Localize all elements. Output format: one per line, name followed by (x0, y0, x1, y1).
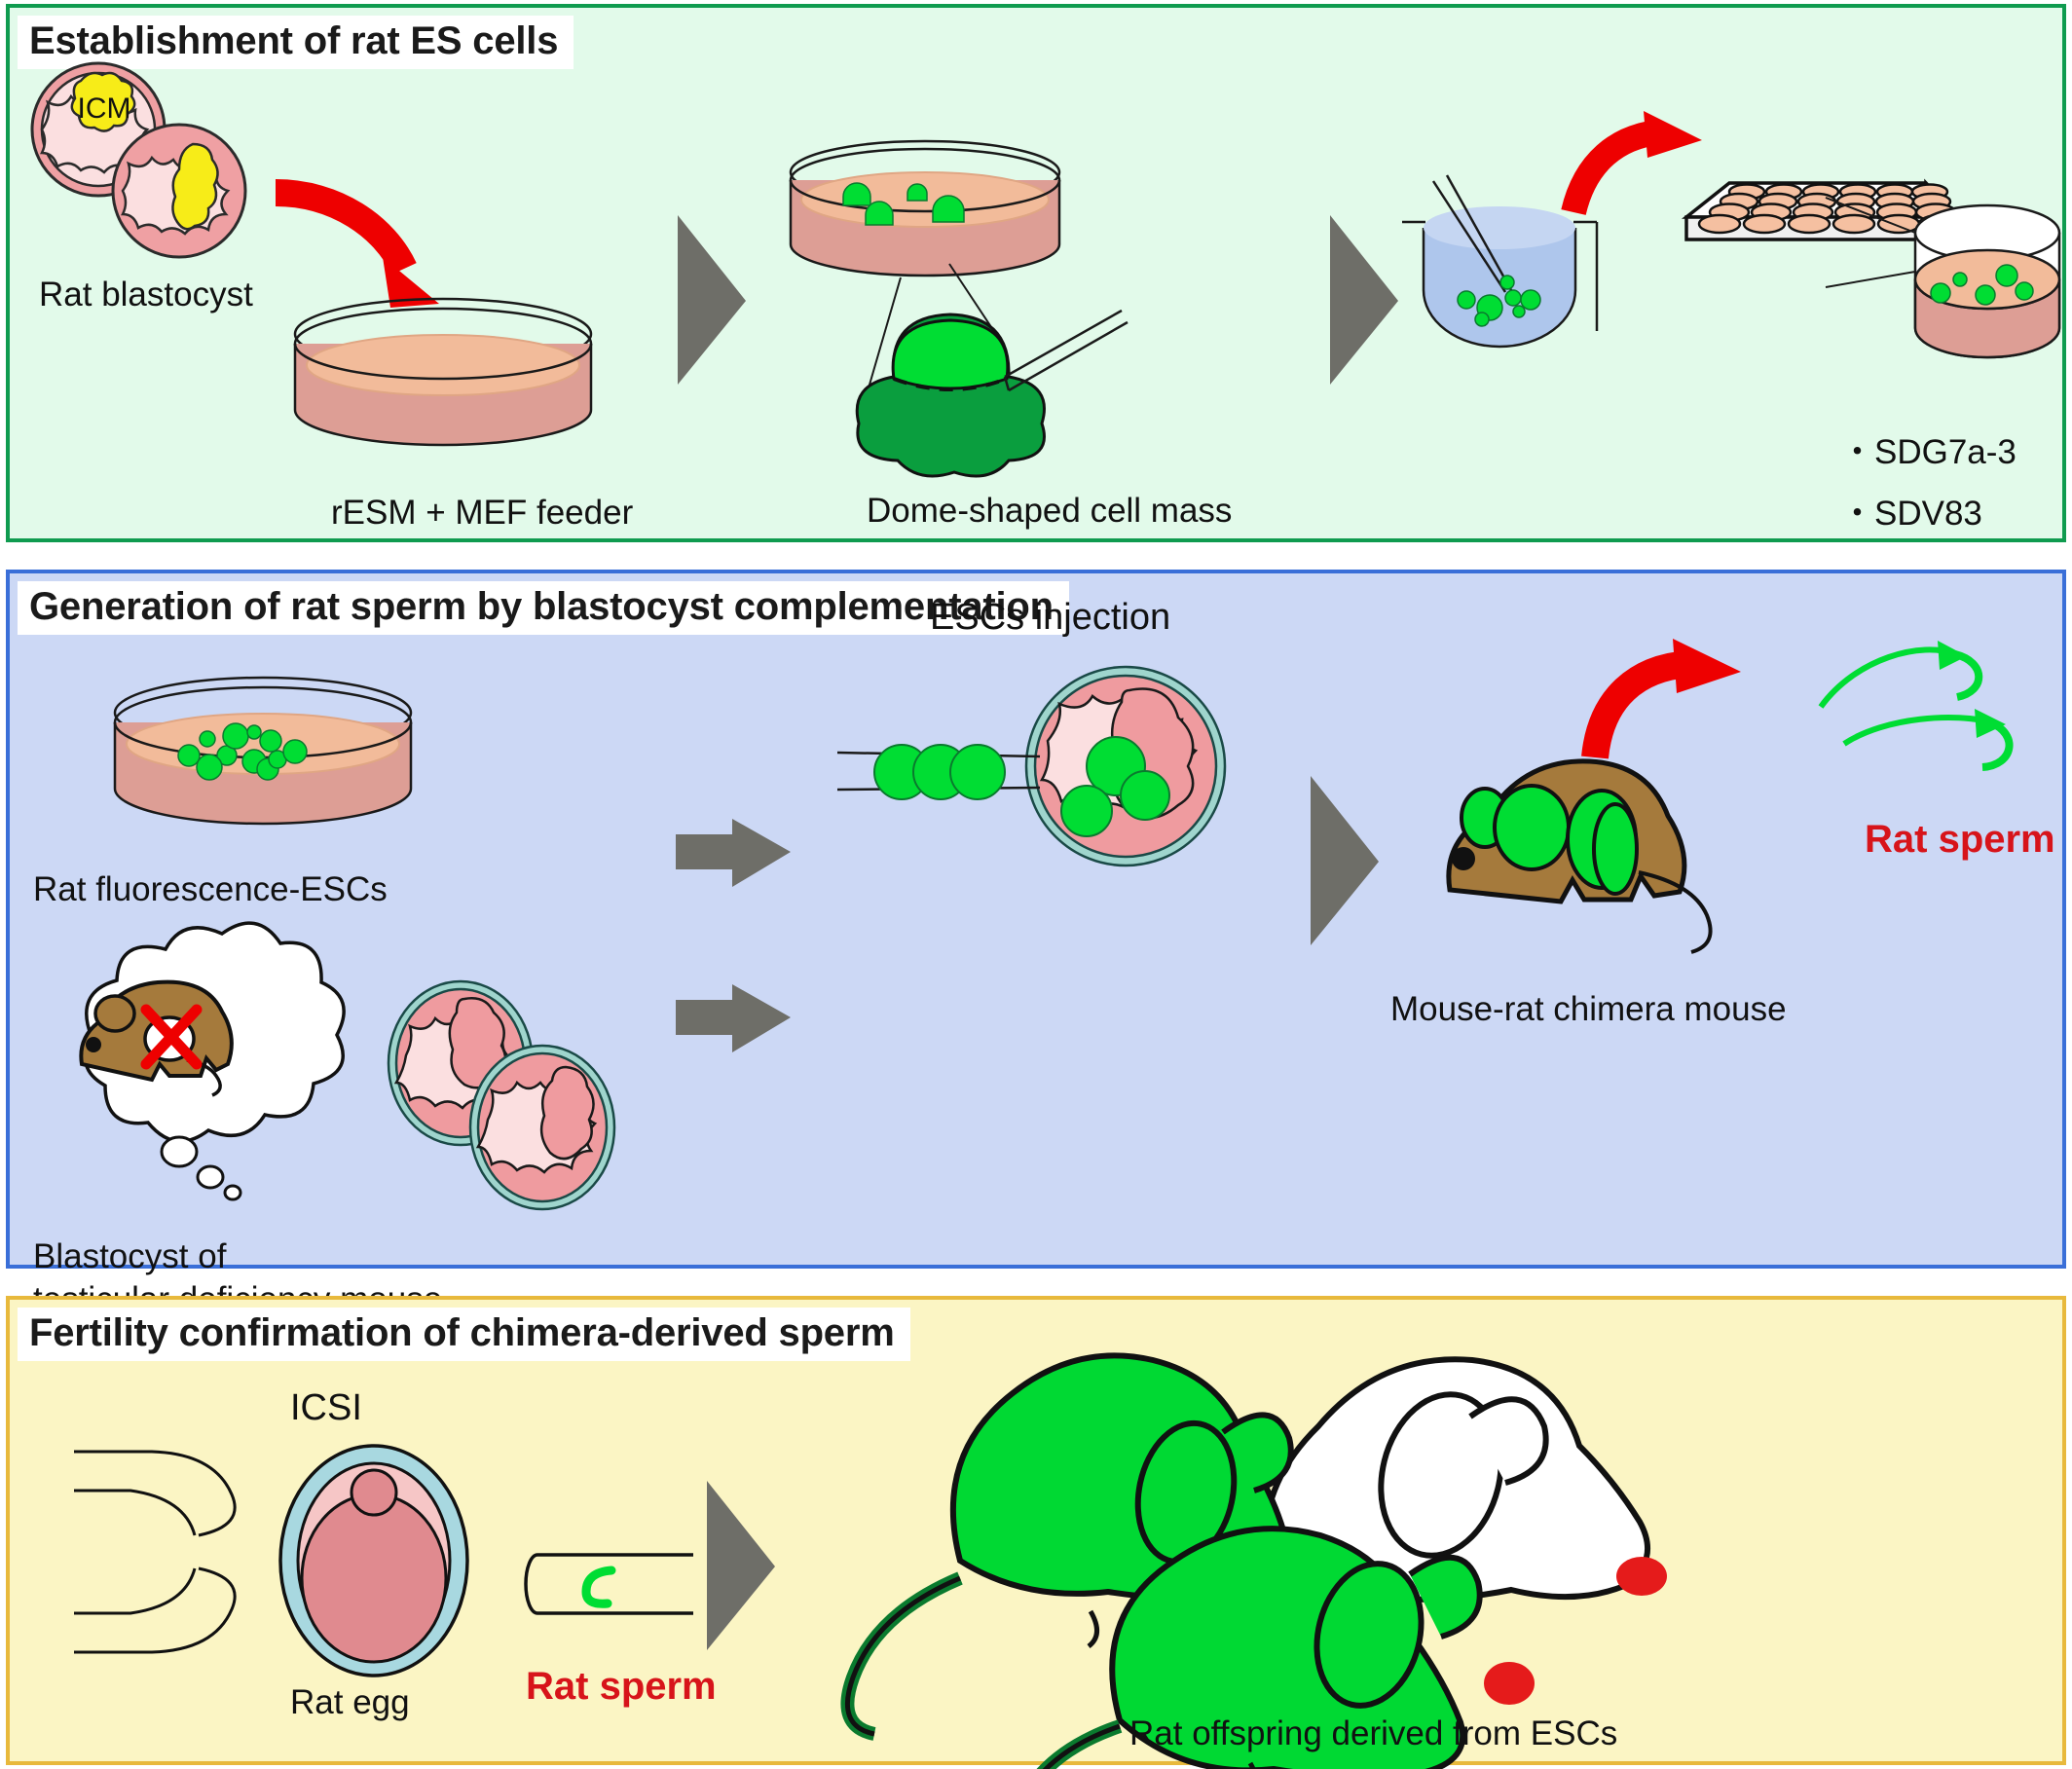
escs-injection-illustration (837, 651, 1295, 885)
petri-dish-fluorescence-escs (107, 685, 419, 866)
panel-establishment-of-rat-es-cells: Establishment of rat ES cells ICM Rat bl… (6, 4, 2066, 542)
rat-offspring-illustration (798, 1327, 1957, 1716)
label-rat-offspring: Rat offspring derived from ESCs (1129, 1713, 1617, 1755)
step-chevron-4 (682, 1473, 808, 1658)
gray-block-arrow-blastocyst (672, 980, 798, 1068)
label-rat-sperm-panel2: Rat sperm (1865, 815, 2055, 864)
label-rat-egg: Rat egg (290, 1681, 410, 1724)
label-dome-shaped-cell-mass: Dome-shaped cell mass (867, 490, 1232, 533)
testicular-deficiency-mouse-thought-bubble (33, 943, 403, 1255)
label-blastocyst-testicular-deficiency-line1: Blastocyst of (33, 1235, 226, 1278)
panel-title-fertility: Fertility confirmation of chimera-derive… (18, 1308, 910, 1361)
rat-blastocyst-illustration: ICM (18, 55, 310, 269)
panel-generation-of-rat-sperm: Generation of rat sperm by blastocyst co… (6, 570, 2066, 1269)
label-rat-fluorescence-escs: Rat fluorescence-ESCs (33, 868, 388, 911)
cell-line-item-1: ・SDG7a-3 (1840, 422, 2016, 483)
label-rat-blastocyst: Rat blastocyst (39, 274, 253, 316)
panel-fertility-confirmation: Fertility confirmation of chimera-derive… (6, 1296, 2066, 1765)
label-resm-mef-feeder: rESM + MEF feeder (331, 492, 633, 534)
cell-line-list: ・SDG7a-3 ・SDV83 (1840, 422, 2016, 544)
dome-shaped-cell-mass-illustration (779, 217, 1295, 475)
gray-block-arrow-escs (672, 815, 798, 903)
rat-sperm-swirls (1821, 637, 2064, 802)
single-well-zoom (1816, 178, 2072, 392)
step-chevron-3 (1285, 768, 1412, 953)
panel-title-generation: Generation of rat sperm by blastocyst co… (18, 581, 1069, 635)
cell-line-item-2: ・SDV83 (1840, 483, 2016, 544)
red-arrow-chimera-to-sperm (1577, 646, 1792, 783)
icm-label: ICM (78, 92, 131, 125)
step-chevron-1 (652, 207, 779, 392)
label-rat-sperm-panel3: Rat sperm (526, 1662, 717, 1711)
petri-dish-resm-mef (287, 305, 599, 485)
label-mouse-rat-chimera-mouse: Mouse-rat chimera mouse (1390, 988, 1787, 1031)
label-icsi: ICSI (290, 1385, 362, 1432)
label-escs-injection: ESCs injection (930, 595, 1170, 642)
donor-blastocysts (385, 977, 657, 1231)
rat-egg-illustration (265, 1436, 489, 1689)
